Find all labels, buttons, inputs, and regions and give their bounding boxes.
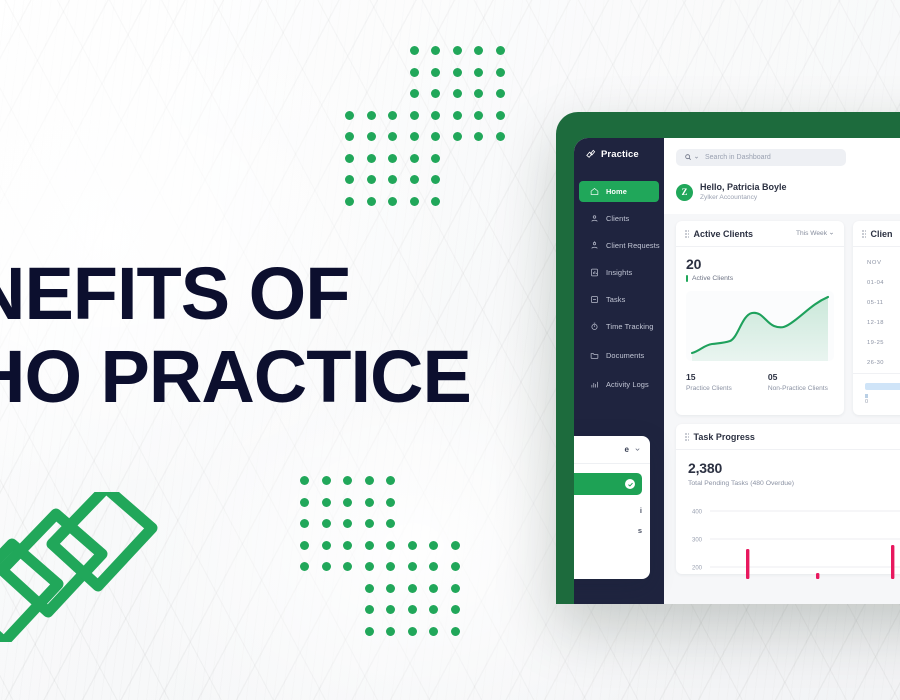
bar-chart-icon — [590, 380, 599, 389]
search-icon — [684, 153, 692, 161]
card-title-group: Clien — [862, 229, 893, 239]
dropdown-header[interactable]: e — [574, 436, 650, 464]
floating-dropdown-card[interactable]: e i s — [574, 436, 650, 579]
task-progress-bar-chart: 400 300 200 — [688, 497, 900, 579]
y-axis-tick: 200 — [692, 565, 703, 571]
dot-row — [345, 154, 517, 176]
sidebar-item-time-tracking[interactable]: Time Tracking — [579, 316, 659, 337]
sidebar-item-label: Time Tracking — [606, 322, 653, 331]
chevron-down-icon — [694, 155, 699, 160]
active-clients-value: 20 — [686, 256, 834, 272]
insights-icon — [590, 268, 599, 277]
dot-row — [300, 562, 472, 584]
app-sidebar: Practice Home Clients — [574, 138, 664, 604]
active-clients-stats: 15 Practice Clients 05 Non-Practice Clie… — [676, 361, 844, 404]
dot-row — [300, 519, 472, 541]
card-filter-dropdown[interactable]: This Week — [796, 230, 834, 237]
zero-indicator: 0 — [865, 394, 900, 405]
search-input-placeholder: Search in Dashboard — [705, 154, 771, 161]
dot-row — [300, 476, 472, 498]
dropdown-option-1[interactable]: i — [574, 506, 642, 515]
legend-label: Active Clients — [692, 275, 733, 282]
sidebar-item-label: Clients — [606, 214, 629, 223]
list-item: 26-30 — [853, 353, 900, 373]
bar — [816, 573, 819, 579]
dot-row — [345, 46, 517, 68]
drag-handle-icon[interactable] — [685, 230, 689, 237]
decorative-dot-grid-top — [345, 46, 517, 218]
sidebar-item-tasks[interactable]: Tasks — [579, 289, 659, 310]
legend-swatch — [686, 275, 688, 282]
dot-row — [300, 498, 472, 520]
practice-logo-icon — [585, 149, 596, 160]
poster-headline: NEFITS OF HO PRACTICE — [0, 258, 471, 413]
drag-handle-icon[interactable] — [862, 230, 866, 237]
sidebar-item-client-requests[interactable]: Client Requests — [579, 235, 659, 256]
list-item: NOV — [853, 253, 900, 273]
dot-row — [345, 68, 517, 90]
task-progress-value: 2,380 — [688, 460, 900, 476]
app-device-frame: Practice Home Clients — [556, 112, 900, 604]
decorative-dot-grid-bottom — [300, 476, 472, 648]
zero-marker-icon — [865, 394, 868, 398]
sidebar-item-label: Client Requests — [606, 241, 660, 250]
sidebar-item-activity-logs[interactable]: Activity Logs — [579, 374, 659, 395]
app-main-panel: Search in Dashboard Z Hello, Patricia Bo… — [664, 138, 900, 604]
card-title: Clien — [870, 229, 892, 239]
card-header: Active Clients This Week — [676, 221, 844, 247]
sidebar-item-home[interactable]: Home — [579, 181, 659, 202]
task-progress-subtitle: Total Pending Tasks (480 Overdue) — [688, 480, 900, 487]
sidebar-item-insights[interactable]: Insights — [579, 262, 659, 283]
card-body: 2,380 Total Pending Tasks (480 Overdue) … — [676, 450, 900, 579]
dropdown-option-2[interactable]: s — [574, 526, 642, 535]
stopwatch-icon — [590, 322, 599, 331]
dashboard-cards-row: Active Clients This Week 20 — [664, 214, 900, 415]
drag-handle-icon[interactable] — [685, 433, 689, 440]
sidebar-brand-label: Practice — [601, 149, 639, 160]
list-item: 12-18 — [853, 313, 900, 333]
sidebar-item-documents[interactable]: Documents — [579, 345, 659, 366]
dropdown-selected-option[interactable] — [574, 473, 642, 495]
tasks-icon — [590, 295, 599, 304]
greeting-org: Zylker Accountancy — [700, 194, 787, 203]
sidebar-item-label: Tasks — [606, 295, 625, 304]
card-header: Clien — [853, 221, 900, 247]
stat-label: Practice Clients — [686, 385, 732, 392]
list-item: 05-11 — [853, 293, 900, 313]
card-header: Task Progress — [676, 424, 900, 450]
stat-value: 15 — [686, 372, 732, 382]
dot-row — [345, 89, 517, 111]
sidebar-item-label: Activity Logs — [606, 380, 649, 389]
dot-row — [345, 111, 517, 133]
greeting-name: Hello, Patricia Boyle — [700, 182, 787, 193]
progress-bar — [865, 383, 900, 390]
list-item: 01-04 — [853, 273, 900, 293]
headline-line-2: HO PRACTICE — [0, 341, 471, 414]
card-filter-label: This Week — [796, 230, 827, 237]
card-body: 20 Active Clients — [676, 247, 844, 361]
card-title: Active Clients — [693, 229, 753, 239]
user-icon — [590, 214, 599, 223]
home-icon — [590, 187, 599, 196]
search-bar[interactable]: Search in Dashboard — [676, 149, 846, 166]
greeting-block: Z Hello, Patricia Boyle Zylker Accountan… — [664, 176, 900, 214]
stat-label: Non-Practice Clients — [768, 385, 828, 392]
dot-row — [300, 541, 472, 563]
app-topbar: Search in Dashboard — [664, 138, 900, 176]
folder-icon — [590, 351, 599, 360]
app-window: Practice Home Clients — [574, 138, 900, 604]
stat-non-practice-clients: 05 Non-Practice Clients — [768, 372, 828, 392]
chevron-down-icon — [634, 446, 641, 453]
clients-card-footer: 0 — [853, 373, 900, 415]
chevron-down-icon — [829, 231, 834, 236]
dot-row — [300, 584, 472, 606]
active-clients-card: Active Clients This Week 20 — [676, 221, 844, 415]
card-title: Task Progress — [693, 432, 754, 442]
card-title-group: Task Progress — [685, 432, 755, 442]
sidebar-item-label: Home — [606, 187, 627, 196]
sidebar-item-clients[interactable]: Clients — [579, 208, 659, 229]
list-item: 19-25 — [853, 333, 900, 353]
sidebar-item-label: Documents — [606, 351, 644, 360]
check-icon — [625, 479, 635, 489]
stat-value: 05 — [768, 372, 828, 382]
clients-date-list: NOV 01-04 05-11 12-18 19-25 26-30 — [853, 247, 900, 373]
bar — [746, 549, 749, 579]
dot-row — [300, 605, 472, 627]
zero-label: 0 — [865, 399, 900, 405]
dot-row — [300, 627, 472, 649]
stat-practice-clients: 15 Practice Clients — [686, 372, 732, 392]
dot-row — [345, 175, 517, 197]
card-title-group: Active Clients — [685, 229, 753, 239]
sidebar-nav: Home Clients Client Requests — [574, 181, 664, 395]
bar — [891, 545, 894, 579]
y-axis-tick: 400 — [692, 509, 703, 515]
sidebar-brand: Practice — [574, 138, 664, 171]
chart-legend: Active Clients — [686, 275, 834, 282]
active-clients-area-chart — [686, 291, 834, 361]
avatar[interactable]: Z — [676, 184, 693, 201]
dot-row — [345, 197, 517, 219]
user-alert-icon — [590, 241, 599, 250]
dropdown-label: e — [625, 445, 629, 454]
dot-row — [345, 132, 517, 154]
headline-line-1: NEFITS OF — [0, 258, 471, 331]
sidebar-item-label: Insights — [606, 268, 632, 277]
task-progress-card: Task Progress 2,380 Total Pending Tasks … — [676, 424, 900, 574]
clients-card: Clien NOV 01-04 05-11 12-18 19-25 26-30 — [853, 221, 900, 415]
y-axis-tick: 300 — [692, 537, 703, 543]
zoho-practice-logo-icon — [0, 492, 158, 642]
